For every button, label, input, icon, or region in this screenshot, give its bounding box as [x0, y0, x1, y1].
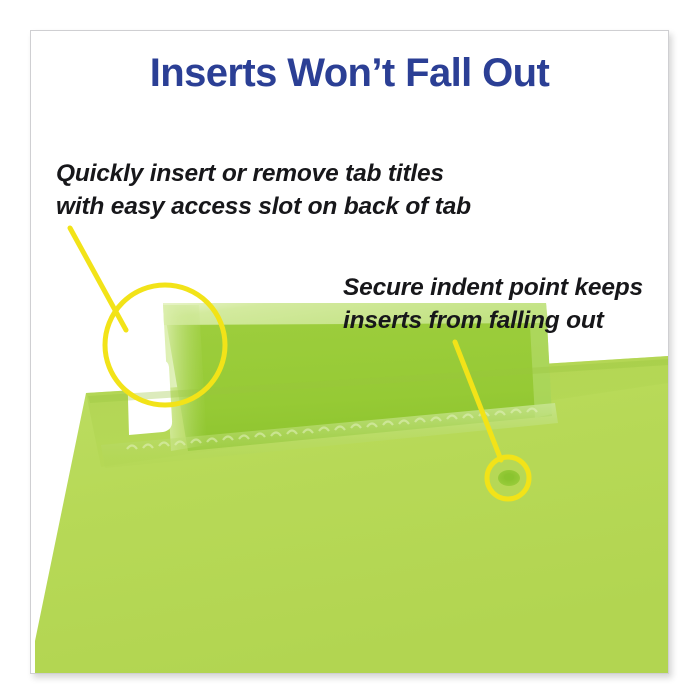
- product-photo-frame: Inserts Won’t Fall Out Quickly insert or…: [30, 30, 669, 674]
- page-title: Inserts Won’t Fall Out: [31, 51, 668, 96]
- callout-label-indent-point: Secure indent point keeps inserts from f…: [343, 271, 643, 337]
- indent-point-core: [504, 474, 514, 481]
- divider-illustration: [31, 31, 668, 673]
- screenshot-root: Inserts Won’t Fall Out Quickly insert or…: [0, 0, 700, 700]
- callout-label-access-slot: Quickly insert or remove tab titles with…: [56, 157, 471, 223]
- product-photo: [31, 31, 668, 673]
